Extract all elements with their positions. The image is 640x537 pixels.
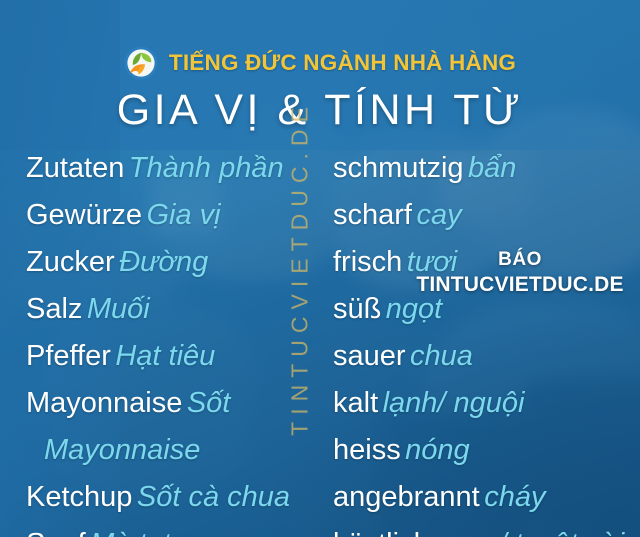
leaf-swoosh-logo-icon [124,46,158,80]
vietnamese-translation: lạnh/ nguội [383,387,525,419]
page-title: GIA VỊ & TÍNH TỪ [0,86,640,135]
german-term: scharf [333,199,412,231]
vocab-row: Pfeffer Hạt tiêu [26,335,288,382]
vocab-row: frisch tươi [333,241,633,288]
vocab-row: Zutaten Thành phần [26,147,288,194]
vietnamese-translation: Gia vị [147,199,221,231]
german-term: sauer [333,340,406,372]
german-term: Gewürze [26,199,142,231]
german-term: schmutzig [333,152,464,184]
german-term: Senf [26,528,86,537]
vietnamese-translation: Thành phần [129,152,284,184]
vocab-row: schmutzig bẩn [333,147,633,194]
vietnamese-translation: nóng [405,434,470,466]
german-term: Zucker [26,246,115,278]
german-term: Salz [26,293,82,325]
vietnamese-translation: chua [410,340,473,372]
german-term: frisch [333,246,402,278]
vocab-row: Senf Mù tạt [26,523,288,537]
vocab-row: köstlich ngon/ tuyệt vời [333,523,633,537]
vocab-row: Zucker Đường [26,241,288,288]
vocab-row: scharf cay [333,194,633,241]
vocab-row: kalt lạnh/ nguội [333,382,633,429]
german-term: Pfeffer [26,340,111,372]
vocab-row: süß ngọt [333,288,633,335]
vocab-row: Salz Muối [26,288,288,335]
german-term: Mayonnaise [26,387,182,419]
vietnamese-translation: Sốt cà chua [137,481,290,513]
vocab-row: Gewürze Gia vị [26,194,288,241]
header-kicker: TIẾNG ĐỨC NGÀNH NHÀ HÀNG [0,46,640,80]
german-term: süß [333,293,381,325]
vietnamese-translation: Muối [87,293,150,325]
vietnamese-translation: Sốt [187,387,231,419]
infographic-card: TIẾNG ĐỨC NGÀNH NHÀ HÀNG GIA VỊ & TÍNH T… [0,0,640,537]
vocab-column-right: schmutzig bẩnscharf cayfrisch tươisüß ng… [333,147,633,537]
vietnamese-translation: ngon/ tuyệt vời [434,528,624,537]
vietnamese-translation: bẩn [468,152,516,184]
vietnamese-translation: Đường [119,246,208,278]
vocab-row: heiss nóng [333,429,633,476]
german-term: heiss [333,434,401,466]
german-term: Ketchup [26,481,132,513]
vietnamese-translation: Mayonnaise [44,434,200,466]
kicker-text: TIẾNG ĐỨC NGÀNH NHÀ HÀNG [169,50,516,76]
vocab-row: Ketchup Sốt cà chua [26,476,288,523]
vietnamese-translation: Mù tạt [90,528,171,537]
vocab-row: angebrannt cháy [333,476,633,523]
vocab-row: Mayonnaise [26,429,288,476]
german-term: angebrannt [333,481,480,513]
vietnamese-translation: cháy [484,481,545,513]
vocab-row: sauer chua [333,335,633,382]
german-term: Zutaten [26,152,124,184]
german-term: köstlich [333,528,430,537]
vietnamese-translation: Hạt tiêu [115,340,215,372]
vietnamese-translation: cay [416,199,461,231]
german-term: kalt [333,387,378,419]
vertical-watermark: TINTUCVIETDUC.DE [287,100,314,436]
vietnamese-translation: ngọt [386,293,442,325]
vocab-row: Mayonnaise Sốt [26,382,288,429]
vocab-column-left: Zutaten Thành phầnGewürze Gia vịZucker Đ… [26,147,288,537]
vietnamese-translation: tươi [407,246,457,278]
